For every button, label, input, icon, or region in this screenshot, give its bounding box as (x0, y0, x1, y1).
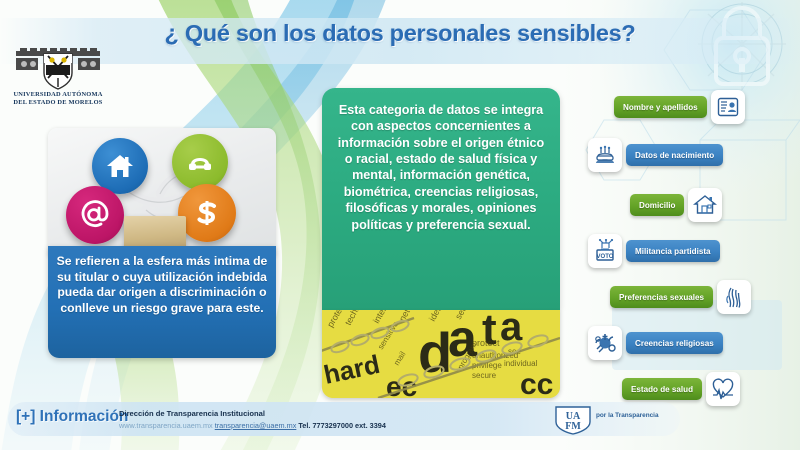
uafm-tagline: por la Transparencia (596, 412, 659, 421)
telephone-icon (172, 134, 228, 190)
list-item[interactable]: Estado de salud (622, 374, 740, 404)
heart-ekg-icon (706, 372, 740, 406)
list-item-label[interactable]: Preferencias sexuales (610, 286, 713, 308)
list-item[interactable]: Preferencias sexuales (610, 282, 751, 312)
list-item-label[interactable]: Estado de salud (622, 378, 702, 400)
dollar-sign-icon (178, 184, 236, 242)
list-item[interactable]: Nombre y apellidos (614, 92, 745, 122)
data-wordcloud-image: d a t a hard ec cc protection technologi… (322, 310, 560, 398)
footer-phone: Tel. 7773297000 ext. 3394 (298, 421, 386, 430)
slide-canvas: ¿ Qué son los datos personales sensibles… (0, 0, 800, 450)
list-item-label[interactable]: Nombre y apellidos (614, 96, 707, 118)
birthday-cake-icon (588, 138, 622, 172)
definition-text: Se refieren a la esfera más intima de su… (56, 254, 268, 316)
list-item-label[interactable]: Datos de nacimiento (626, 144, 723, 166)
list-item[interactable]: Creencias religiosas (588, 328, 723, 358)
padlock-icon (124, 216, 186, 250)
holding-hands-icon (717, 280, 751, 314)
uaem-transparencia-logo: UA FM por la Transparencia (552, 404, 668, 438)
ballot-box-icon: VOTO (588, 234, 622, 268)
connected-data-photo (48, 128, 276, 256)
at-sign-icon (66, 186, 124, 244)
list-item-label[interactable]: Creencias religiosas (626, 332, 723, 354)
definition-box: Se refieren a la esfera más intima de su… (48, 246, 276, 358)
footer-website[interactable]: www.transparencia.uaem.mx (119, 421, 213, 430)
list-item[interactable]: Datos de nacimiento (588, 140, 723, 170)
svg-text:secure: secure (472, 371, 497, 380)
footer-office: Dirección de Transparencia Institucional (119, 409, 265, 418)
svg-text:individual: individual (504, 359, 538, 368)
page-title: ¿ Qué son los datos personales sensibles… (0, 20, 800, 47)
list-item-label[interactable]: Domicilio (630, 194, 684, 216)
category-text: Esta categoria de datos se integra con a… (335, 102, 547, 233)
list-item-label[interactable]: Militancia partidista (626, 240, 720, 262)
uafm-shield-icon: UA FM (552, 404, 594, 436)
id-card-icon (711, 90, 745, 124)
wordcloud-art: d a t a hard ec cc protection technologi… (322, 310, 560, 398)
sensitive-data-list: Nombre y apellidos Datos de nacimiento D… (588, 92, 800, 392)
svg-text:VOTO: VOTO (597, 254, 614, 260)
crest-name: UNIVERSIDAD AUTÓNOMA DEL ESTADO DE MOREL… (6, 91, 110, 108)
svg-text:cc: cc (520, 368, 553, 398)
footer-email[interactable]: transparencia@uaem.mx (215, 421, 297, 430)
footer-contact: www.transparencia.uaem.mx transparencia@… (119, 421, 386, 430)
uaem-crest-icon (6, 45, 110, 93)
svg-text:FM: FM (565, 421, 581, 432)
uaem-crest: UNIVERSIDAD AUTÓNOMA DEL ESTADO DE MOREL… (6, 45, 110, 115)
list-item[interactable]: Domicilio (630, 190, 722, 220)
house-icon (688, 188, 722, 222)
religions-icon (588, 326, 622, 360)
more-info-label[interactable]: [+] Información (16, 408, 128, 426)
category-box: Esta categoria de datos se integra con a… (322, 88, 560, 310)
list-item[interactable]: VOTO Militancia partidista (588, 236, 720, 266)
